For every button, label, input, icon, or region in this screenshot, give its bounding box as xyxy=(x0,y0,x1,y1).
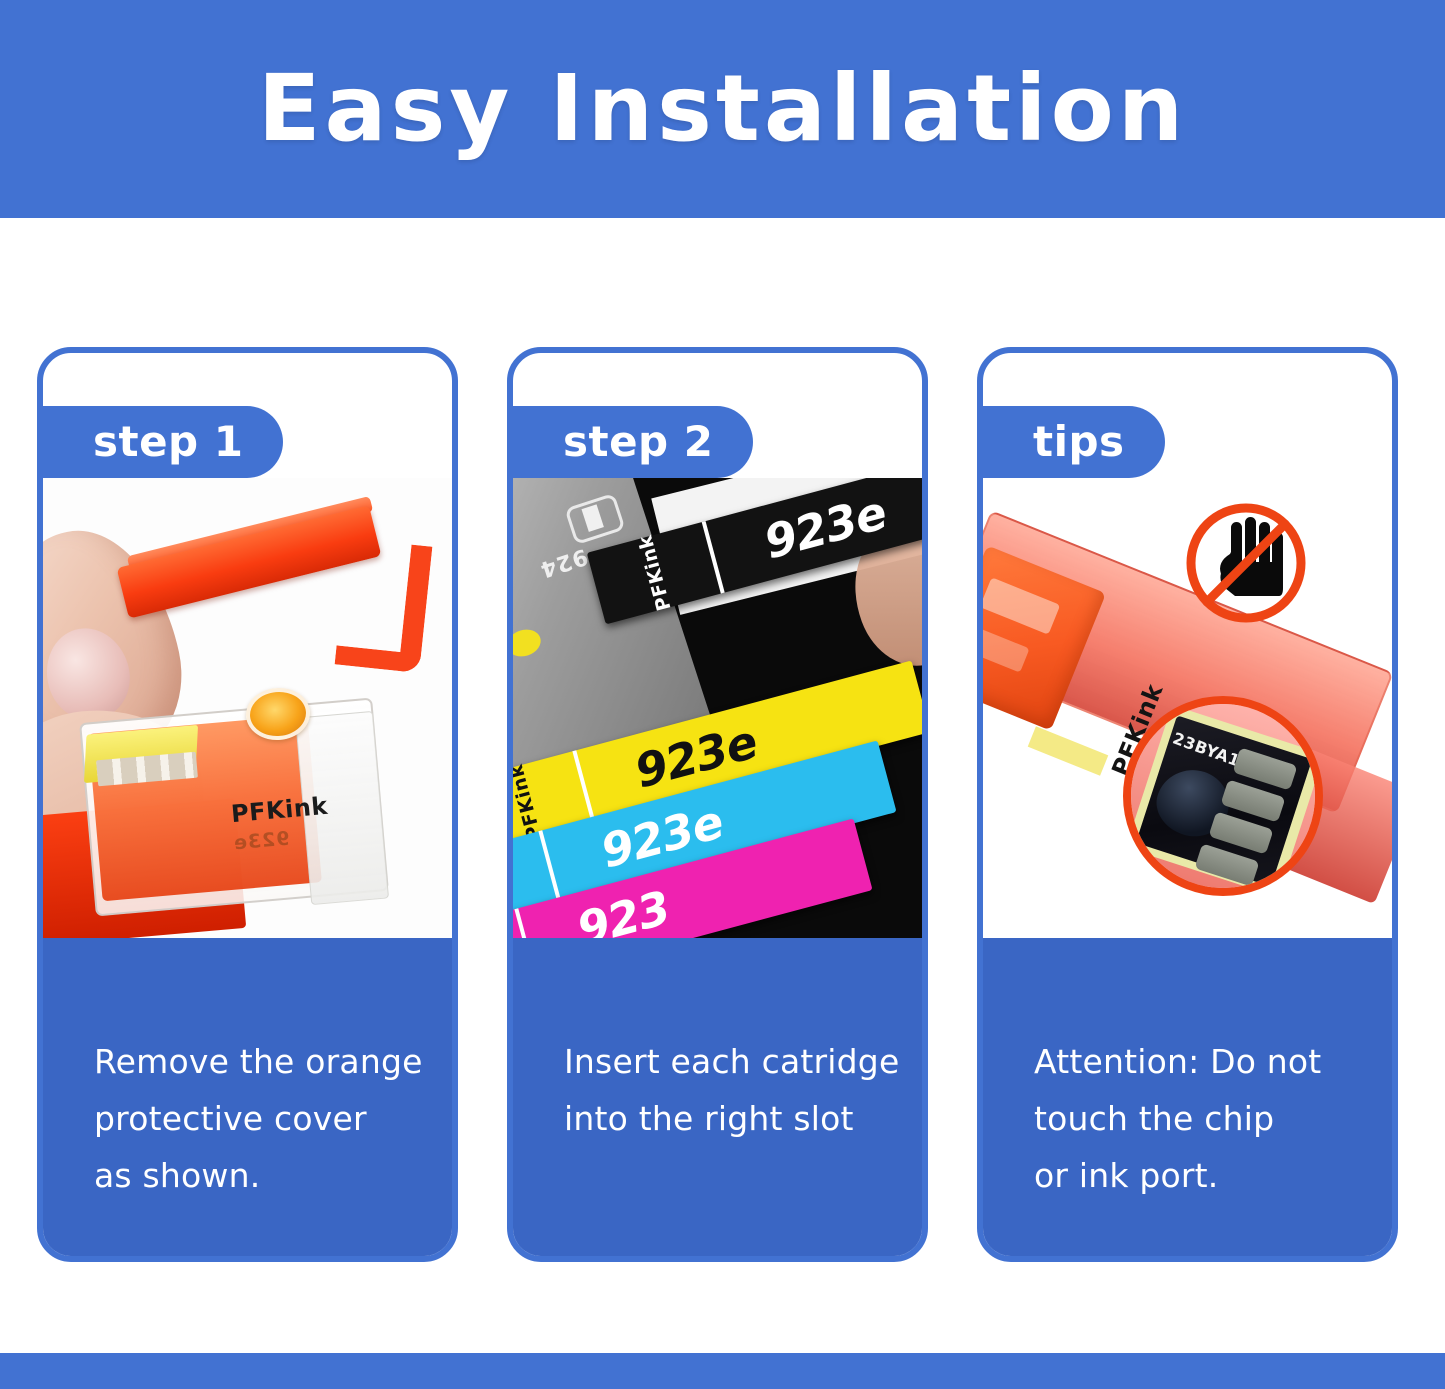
step-2-caption-text: Insert each catridge into the right slot xyxy=(564,1034,899,1148)
strip-divider xyxy=(515,908,538,938)
steps-container: PFKink 923e step 1 Remove the orange pro… xyxy=(0,347,1445,1265)
tips-badge-label: tips xyxy=(1033,421,1125,463)
chip-highlight-circle: 23BYA11 xyxy=(1123,696,1323,896)
strip-brand-label: PFKink xyxy=(634,533,675,613)
footer-bar xyxy=(0,1353,1445,1389)
step-card-1: PFKink 923e step 1 Remove the orange pro… xyxy=(37,347,458,1262)
tips-card: PFKink xyxy=(977,347,1398,1262)
strip-code-label: 923 xyxy=(571,880,675,938)
step-1-caption: Remove the orange protective cover as sh… xyxy=(41,938,454,1258)
tips-caption: Attention: Do not touch the chip or ink … xyxy=(981,938,1394,1258)
strip-divider xyxy=(573,750,596,823)
header-bar: Easy Installation xyxy=(0,0,1445,218)
tips-caption-text: Attention: Do not touch the chip or ink … xyxy=(1034,1034,1321,1204)
tips-badge-zone: tips xyxy=(977,406,1165,478)
step-2-badge-label: step 2 xyxy=(563,421,713,463)
step-1-badge-zone: step 1 xyxy=(37,406,283,478)
tips-photo: PFKink xyxy=(981,478,1398,938)
step-1-caption-text: Remove the orange protective cover as sh… xyxy=(94,1034,423,1204)
step-1-badge: step 1 xyxy=(37,406,283,478)
page-title: Easy Installation xyxy=(258,63,1188,155)
no-hand-prohibition-icon xyxy=(1183,500,1309,626)
strip-divider xyxy=(702,521,725,594)
tips-badge: tips xyxy=(977,406,1165,478)
strip-divider xyxy=(539,830,562,903)
step-2-badge: step 2 xyxy=(507,406,753,478)
step-2-photo: █ 924 PFKink 923e PFKink 923e PFKink 923… xyxy=(511,478,928,938)
step-2-caption: Insert each catridge into the right slot xyxy=(511,938,924,1258)
orange-cover-hook xyxy=(335,538,433,673)
step-1-photo: PFKink 923e xyxy=(41,478,458,938)
step-card-2: █ 924 PFKink 923e PFKink 923e PFKink 923… xyxy=(507,347,928,1262)
step-2-badge-zone: step 2 xyxy=(507,406,753,478)
step-1-badge-label: step 1 xyxy=(93,421,243,463)
